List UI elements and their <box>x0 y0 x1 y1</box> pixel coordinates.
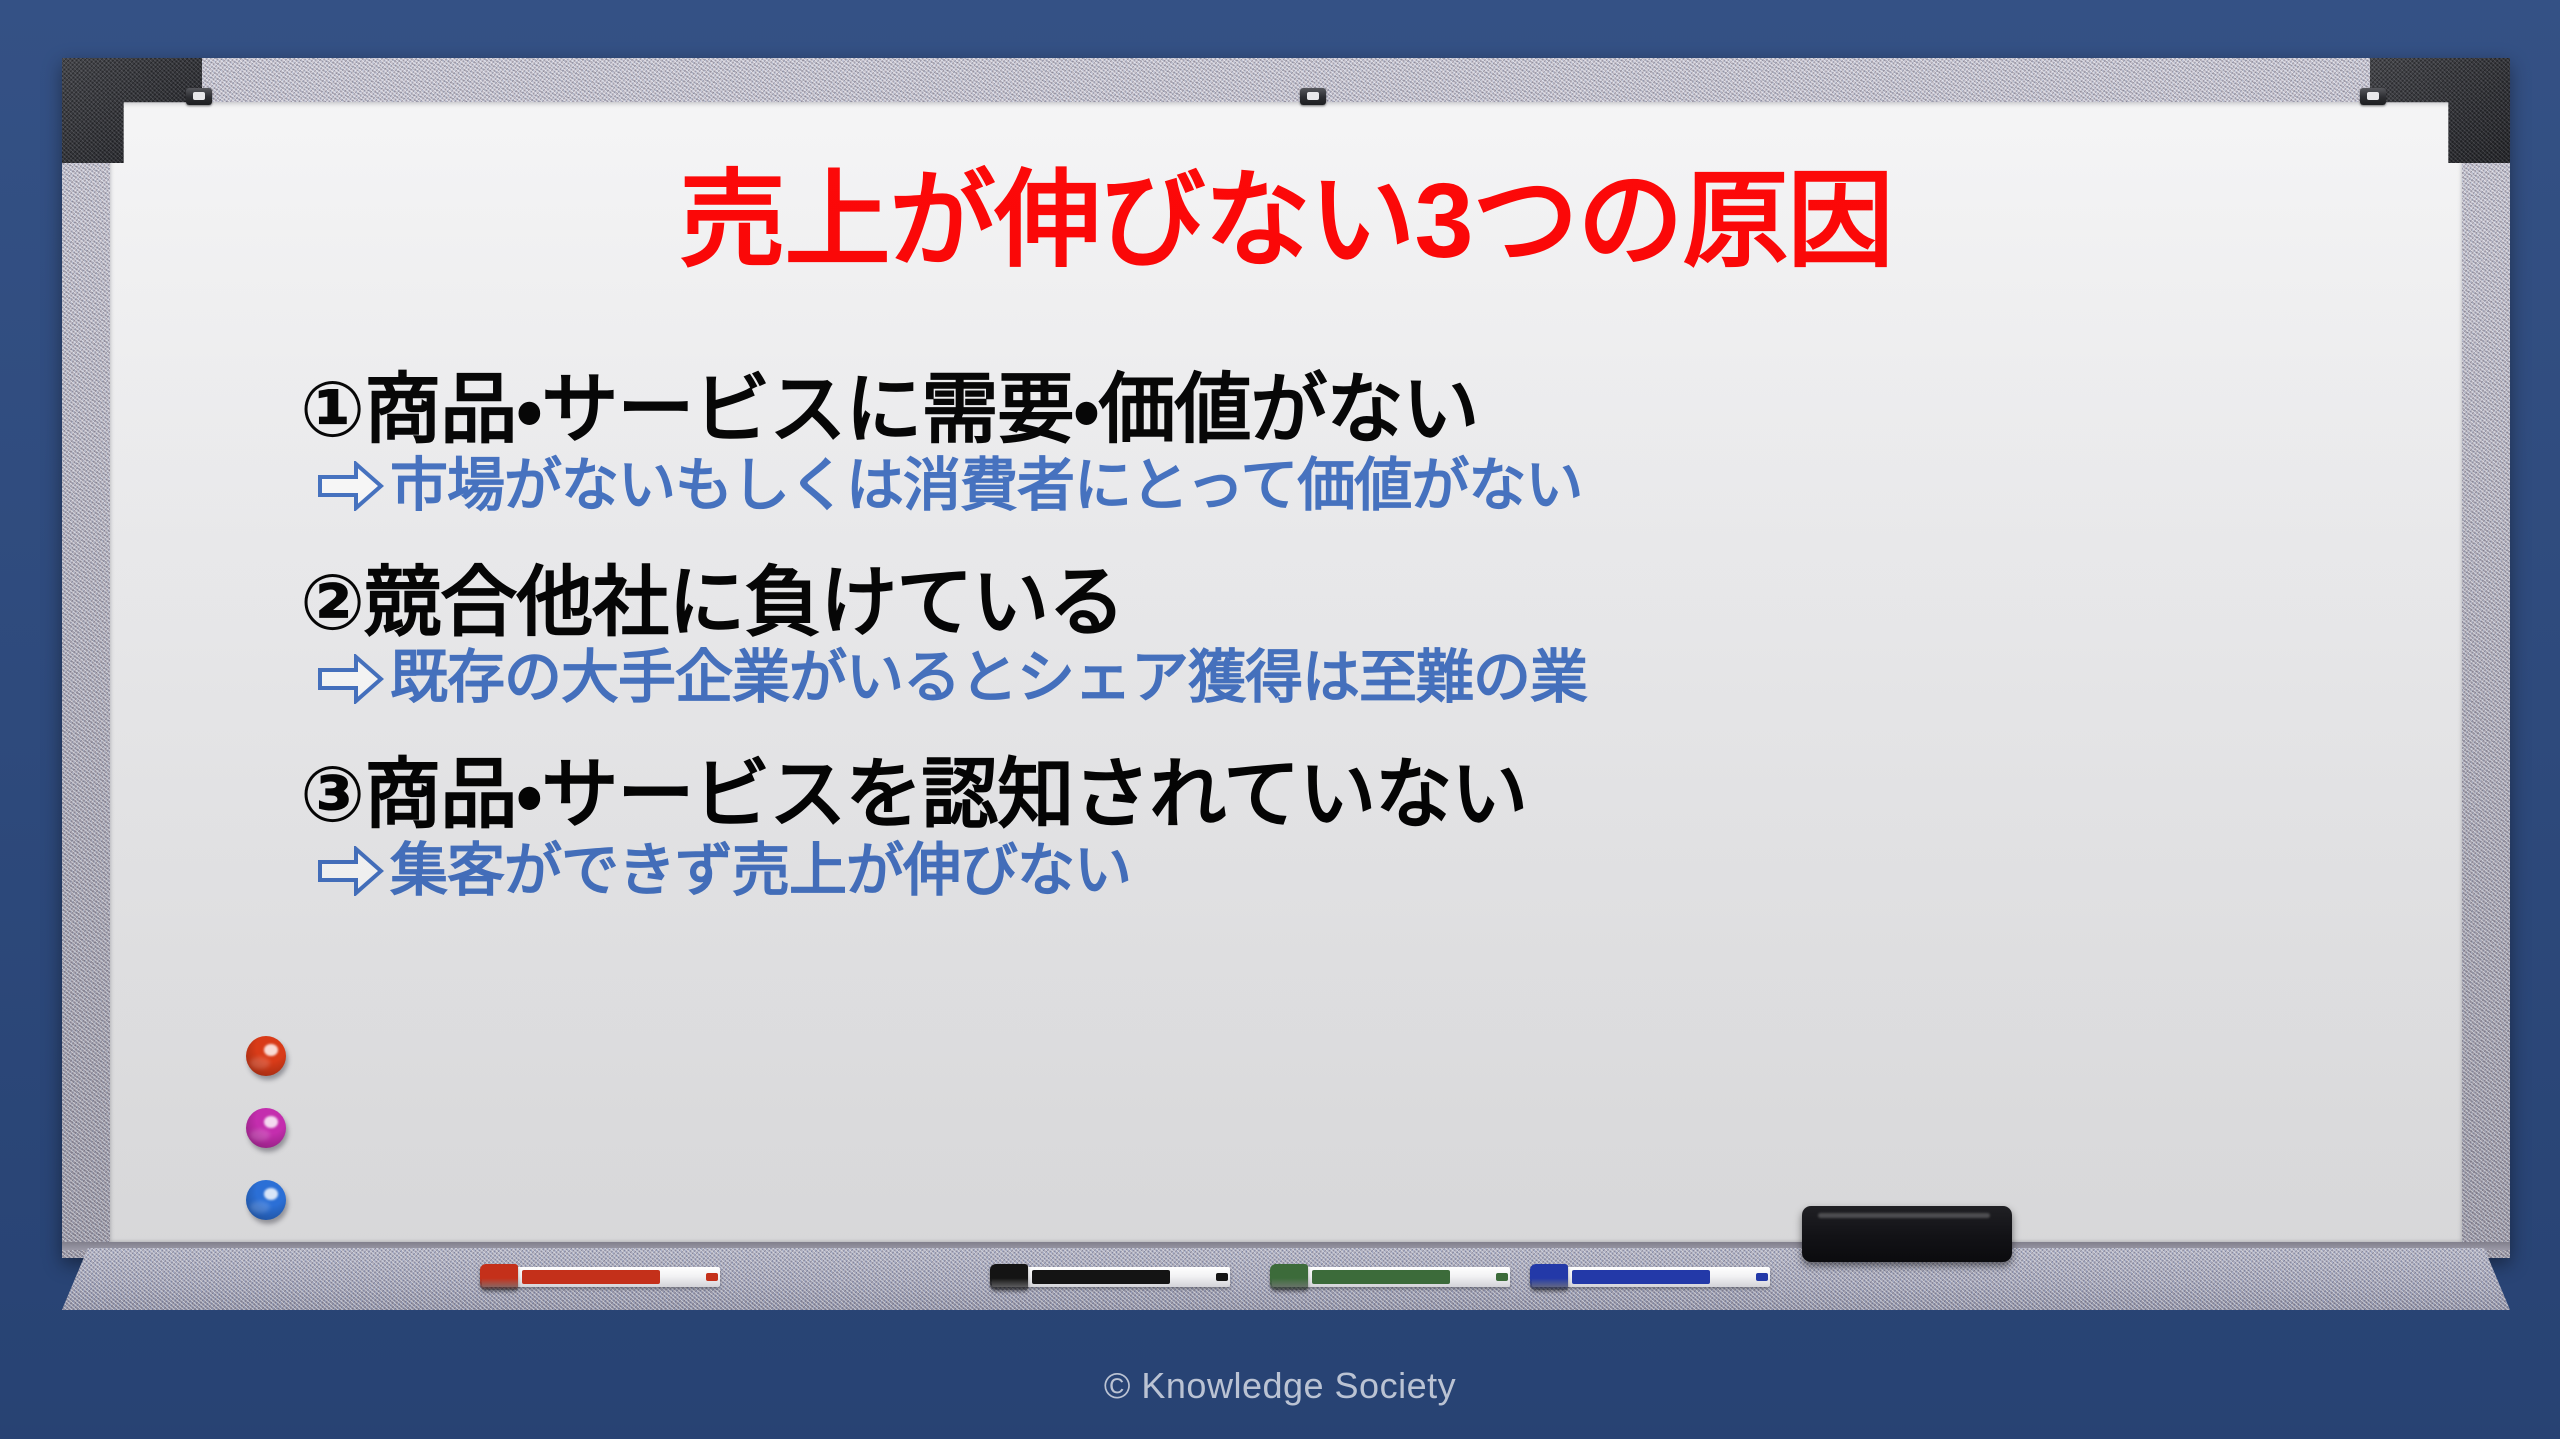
marker-green[interactable] <box>1272 1264 1510 1290</box>
list-item-cause-3: ③商品・サービスを認知されていない 集客ができず売上が伸びない <box>300 755 2400 904</box>
marker-color-band <box>1572 1270 1710 1284</box>
marker-cap <box>1270 1264 1308 1290</box>
whiteboard-surface: 売上が伸びない3つの原因 ①商品・サービスに需要・価値がない <box>110 102 2462 1242</box>
hollow-right-arrow-icon <box>318 654 384 704</box>
magnet-red[interactable] <box>246 1036 286 1076</box>
marker-color-band <box>1032 1270 1170 1284</box>
slide-content: 売上が伸びない3つの原因 ①商品・サービスに需要・価値がない <box>110 102 2462 1242</box>
cause-1-detail-row: 市場がないもしくは消費者にとって価値がない <box>318 454 2400 519</box>
marker-tip <box>1216 1273 1228 1281</box>
slide-canvas: 売上が伸びない3つの原因 ①商品・サービスに需要・価値がない <box>0 0 2560 1439</box>
cause-3-heading: ③商品・サービスを認知されていない <box>300 755 2400 837</box>
magnet-magenta[interactable] <box>246 1108 286 1148</box>
whiteboard-frame: 売上が伸びない3つの原因 ①商品・サービスに需要・価値がない <box>62 58 2510 1258</box>
list-item-cause-2: ②競合他社に負けている 既存の大手企業がいるとシェア獲得は至難の業 <box>300 563 2400 712</box>
marker-tip <box>1756 1273 1768 1281</box>
marker-tip <box>706 1273 718 1281</box>
marker-color-band <box>522 1270 660 1284</box>
mount-clip-icon-left <box>186 88 212 105</box>
cause-2-detail-text: 既存の大手企業がいるとシェア獲得は至難の業 <box>390 646 1587 711</box>
cause-list: ①商品・サービスに需要・価値がない 市場がないもしくは消費者にとって価値がない <box>300 370 2400 904</box>
magnet-blue[interactable] <box>246 1180 286 1220</box>
whiteboard-eraser <box>1802 1206 2012 1262</box>
page-title: 売上が伸びない3つの原因 <box>110 168 2462 274</box>
cause-3-detail-row: 集客ができず売上が伸びない <box>318 839 2400 904</box>
cause-2-heading: ②競合他社に負けている <box>300 563 2400 645</box>
marker-cap <box>480 1264 518 1290</box>
cause-2-detail-row: 既存の大手企業がいるとシェア獲得は至難の業 <box>318 646 2400 711</box>
marker-cap <box>1530 1264 1568 1290</box>
marker-cap <box>990 1264 1028 1290</box>
marker-blue[interactable] <box>1532 1264 1770 1290</box>
marker-color-band <box>1312 1270 1450 1284</box>
marker-red[interactable] <box>482 1264 720 1290</box>
whiteboard: 売上が伸びない3つの原因 ①商品・サービスに需要・価値がない <box>62 58 2510 1316</box>
marker-black[interactable] <box>992 1264 1230 1290</box>
cause-3-detail-text: 集客ができず売上が伸びない <box>390 839 1131 904</box>
list-item-cause-1: ①商品・サービスに需要・価値がない 市場がないもしくは消費者にとって価値がない <box>300 370 2400 519</box>
copyright-footer: © Knowledge Society <box>0 1365 2560 1407</box>
hollow-right-arrow-icon <box>318 461 384 511</box>
magnet-strip <box>246 1036 302 1242</box>
mount-clip-icon-center <box>1300 88 1326 105</box>
cause-1-heading: ①商品・サービスに需要・価値がない <box>300 370 2400 452</box>
hollow-right-arrow-icon <box>318 846 384 896</box>
cause-1-detail-text: 市場がないもしくは消費者にとって価値がない <box>390 454 1582 519</box>
mount-clip-icon-right <box>2360 88 2386 105</box>
marker-tip <box>1496 1273 1508 1281</box>
